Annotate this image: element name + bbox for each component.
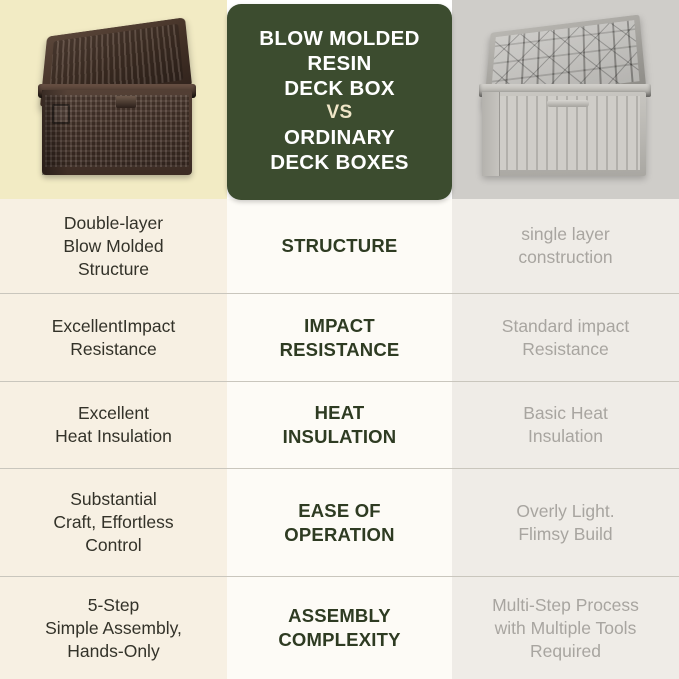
- badge-line-5: ORDINARY: [284, 125, 395, 150]
- row-4-ours-cell: Substantial Craft, Effortless Control: [0, 469, 227, 576]
- row-1-ours-text: Double-layer Blow Molded Structure: [63, 212, 163, 281]
- row-1-feature-text: STRUCTURE: [282, 234, 398, 258]
- row-3-theirs-cell: Basic Heat Insulation: [452, 382, 679, 468]
- row-3-feature-text: HEAT INSULATION: [283, 401, 397, 449]
- table-row: Substantial Craft, Effortless Control EA…: [0, 469, 679, 577]
- row-5-ours-cell: 5-Step Simple Assembly, Hands-Only: [0, 577, 227, 679]
- row-5-theirs-text: Multi-Step Process with Multiple Tools R…: [492, 594, 639, 663]
- badge-line-6: DECK BOXES: [270, 150, 409, 175]
- row-3-ours-cell: Excellent Heat Insulation: [0, 382, 227, 468]
- table-row: Excellent Heat Insulation HEAT INSULATIO…: [0, 382, 679, 469]
- row-4-theirs-cell: Overly Light. Flimsy Build: [452, 469, 679, 576]
- row-2-feature-text: IMPACT RESISTANCE: [280, 314, 400, 362]
- table-row: Double-layer Blow Molded Structure STRUC…: [0, 199, 679, 294]
- vs-title-badge: BLOW MOLDED RESIN DECK BOX VS ORDINARY D…: [227, 4, 452, 200]
- comparison-table: Double-layer Blow Molded Structure STRUC…: [0, 199, 679, 679]
- row-4-feature-text: EASE OF OPERATION: [284, 499, 394, 547]
- badge-line-2: RESIN: [307, 51, 371, 76]
- gray-plastic-deck-box-icon: [452, 0, 679, 199]
- row-1-theirs-cell: single layer construction: [452, 199, 679, 293]
- badge-line-1: BLOW MOLDED: [259, 26, 419, 51]
- row-5-ours-text: 5-Step Simple Assembly, Hands-Only: [45, 594, 182, 663]
- row-2-theirs-cell: Standard impact Resistance: [452, 294, 679, 381]
- brown-wicker-deck-box-icon: [0, 0, 227, 199]
- row-2-ours-text: ExcellentImpact Resistance: [52, 315, 176, 361]
- row-2-theirs-text: Standard impact Resistance: [502, 315, 629, 361]
- row-1-feature-cell: STRUCTURE: [227, 199, 452, 293]
- row-5-feature-cell: ASSEMBLY COMPLEXITY: [227, 577, 452, 679]
- left-product-image-cell: [0, 0, 227, 199]
- row-5-feature-text: ASSEMBLY COMPLEXITY: [278, 604, 400, 652]
- row-2-ours-cell: ExcellentImpact Resistance: [0, 294, 227, 381]
- row-4-feature-cell: EASE OF OPERATION: [227, 469, 452, 576]
- row-1-ours-cell: Double-layer Blow Molded Structure: [0, 199, 227, 293]
- row-2-feature-cell: IMPACT RESISTANCE: [227, 294, 452, 381]
- table-row: 5-Step Simple Assembly, Hands-Only ASSEM…: [0, 577, 679, 679]
- row-5-theirs-cell: Multi-Step Process with Multiple Tools R…: [452, 577, 679, 679]
- brown-box-handle-icon: [52, 104, 70, 124]
- comparison-infographic: BLOW MOLDED RESIN DECK BOX VS ORDINARY D…: [0, 0, 679, 679]
- header-band: BLOW MOLDED RESIN DECK BOX VS ORDINARY D…: [0, 0, 679, 199]
- badge-line-3: DECK BOX: [284, 76, 395, 101]
- table-row: ExcellentImpact Resistance IMPACT RESIST…: [0, 294, 679, 382]
- badge-line-vs: VS: [327, 101, 353, 125]
- row-1-theirs-text: single layer construction: [518, 223, 612, 269]
- row-4-theirs-text: Overly Light. Flimsy Build: [516, 500, 614, 546]
- row-3-feature-cell: HEAT INSULATION: [227, 382, 452, 468]
- row-3-ours-text: Excellent Heat Insulation: [55, 402, 172, 448]
- gray-box-handle-icon: [547, 100, 589, 107]
- right-product-image-cell: [452, 0, 679, 199]
- row-4-ours-text: Substantial Craft, Effortless Control: [53, 488, 173, 557]
- brown-box-latch-icon: [116, 96, 136, 108]
- row-3-theirs-text: Basic Heat Insulation: [523, 402, 608, 448]
